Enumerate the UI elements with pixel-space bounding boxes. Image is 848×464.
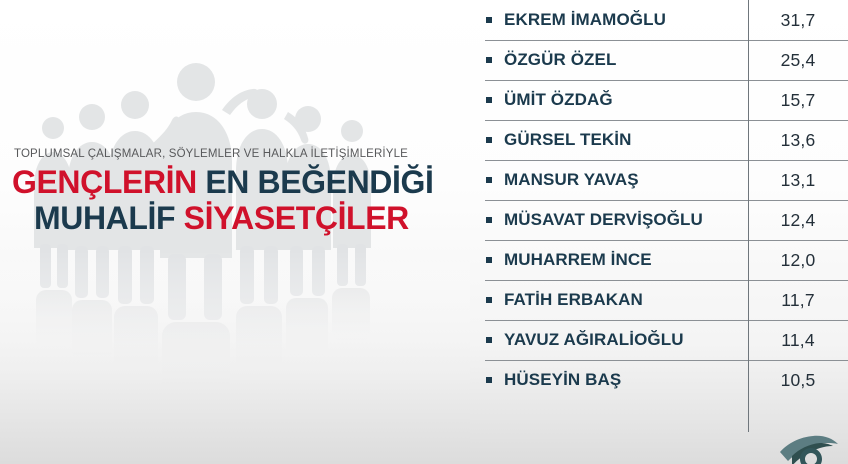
politician-score: 12,4 xyxy=(748,210,848,231)
headline-block: TOPLUMSAL ÇALIŞMALAR, SÖYLEMLER VE HALKL… xyxy=(12,148,462,236)
headline-word-genclerin: GENÇLERİN xyxy=(12,164,197,200)
politician-name: ÖZGÜR ÖZEL xyxy=(504,50,748,70)
infographic-poster: TOPLUMSAL ÇALIŞMALAR, SÖYLEMLER VE HALKL… xyxy=(0,0,848,464)
politician-name: YAVUZ AĞIRALİOĞLU xyxy=(504,330,748,350)
bullet-square-icon xyxy=(470,257,504,263)
politician-score: 15,7 xyxy=(748,90,848,111)
bullet-square-icon xyxy=(470,137,504,143)
politician-score: 11,4 xyxy=(748,330,848,351)
ranking-table: EKREM İMAMOĞLU31,7ÖZGÜR ÖZEL25,4ÜMİT ÖZD… xyxy=(470,0,848,440)
politician-score: 25,4 xyxy=(748,50,848,71)
page-title: GENÇLERİN EN BEĞENDİĞİ MUHALİF SİYASETÇİ… xyxy=(12,164,462,236)
table-row[interactable]: FATİH ERBAKAN11,7 xyxy=(470,280,848,320)
table-row[interactable]: MÜSAVAT DERVİŞOĞLU12,4 xyxy=(470,200,848,240)
broadcaster-logo xyxy=(776,432,842,464)
politician-name: HÜSEYİN BAŞ xyxy=(504,370,748,390)
headline-word-en-begendigi: EN BEĞENDİĞİ xyxy=(205,164,433,200)
politician-name: FATİH ERBAKAN xyxy=(504,290,748,310)
table-row[interactable]: EKREM İMAMOĞLU31,7 xyxy=(470,0,848,40)
bullet-square-icon xyxy=(470,97,504,103)
politician-score: 11,7 xyxy=(748,290,848,311)
table-column-divider xyxy=(748,0,749,432)
politician-name: ÜMİT ÖZDAĞ xyxy=(504,90,748,110)
politician-name: EKREM İMAMOĞLU xyxy=(504,10,748,30)
poster-kicker: TOPLUMSAL ÇALIŞMALAR, SÖYLEMLER VE HALKL… xyxy=(14,148,462,160)
bullet-square-icon xyxy=(470,377,504,383)
table-row[interactable]: ÜMİT ÖZDAĞ15,7 xyxy=(470,80,848,120)
bullet-square-icon xyxy=(470,337,504,343)
politician-score: 10,5 xyxy=(748,370,848,391)
headline-word-muhalif: MUHALİF xyxy=(34,200,175,236)
bullet-square-icon xyxy=(470,297,504,303)
table-row[interactable]: ÖZGÜR ÖZEL25,4 xyxy=(470,40,848,80)
table-row[interactable]: MUHARREM İNCE12,0 xyxy=(470,240,848,280)
politician-score: 13,6 xyxy=(748,130,848,151)
headline-word-siyasetciler: SİYASETÇİLER xyxy=(184,200,409,236)
ranking-rows: EKREM İMAMOĞLU31,7ÖZGÜR ÖZEL25,4ÜMİT ÖZD… xyxy=(470,0,848,400)
politician-score: 13,1 xyxy=(748,170,848,191)
politician-name: MUHARREM İNCE xyxy=(504,250,748,270)
table-row[interactable]: YAVUZ AĞIRALİOĞLU11,4 xyxy=(470,320,848,360)
politician-name: GÜRSEL TEKİN xyxy=(504,130,748,150)
politician-score: 31,7 xyxy=(748,10,848,31)
politician-name: MÜSAVAT DERVİŞOĞLU xyxy=(504,210,748,230)
headline-line-2: MUHALİF SİYASETÇİLER xyxy=(12,200,462,236)
bullet-square-icon xyxy=(470,177,504,183)
left-panel: TOPLUMSAL ÇALIŞMALAR, SÖYLEMLER VE HALKL… xyxy=(0,0,470,464)
bullet-square-icon xyxy=(470,57,504,63)
bullet-square-icon xyxy=(470,217,504,223)
bullet-square-icon xyxy=(470,17,504,23)
table-row[interactable]: HÜSEYİN BAŞ10,5 xyxy=(470,360,848,400)
politician-name: MANSUR YAVAŞ xyxy=(504,170,748,190)
politician-score: 12,0 xyxy=(748,250,848,271)
table-row[interactable]: MANSUR YAVAŞ13,1 xyxy=(470,160,848,200)
table-row[interactable]: GÜRSEL TEKİN13,6 xyxy=(470,120,848,160)
